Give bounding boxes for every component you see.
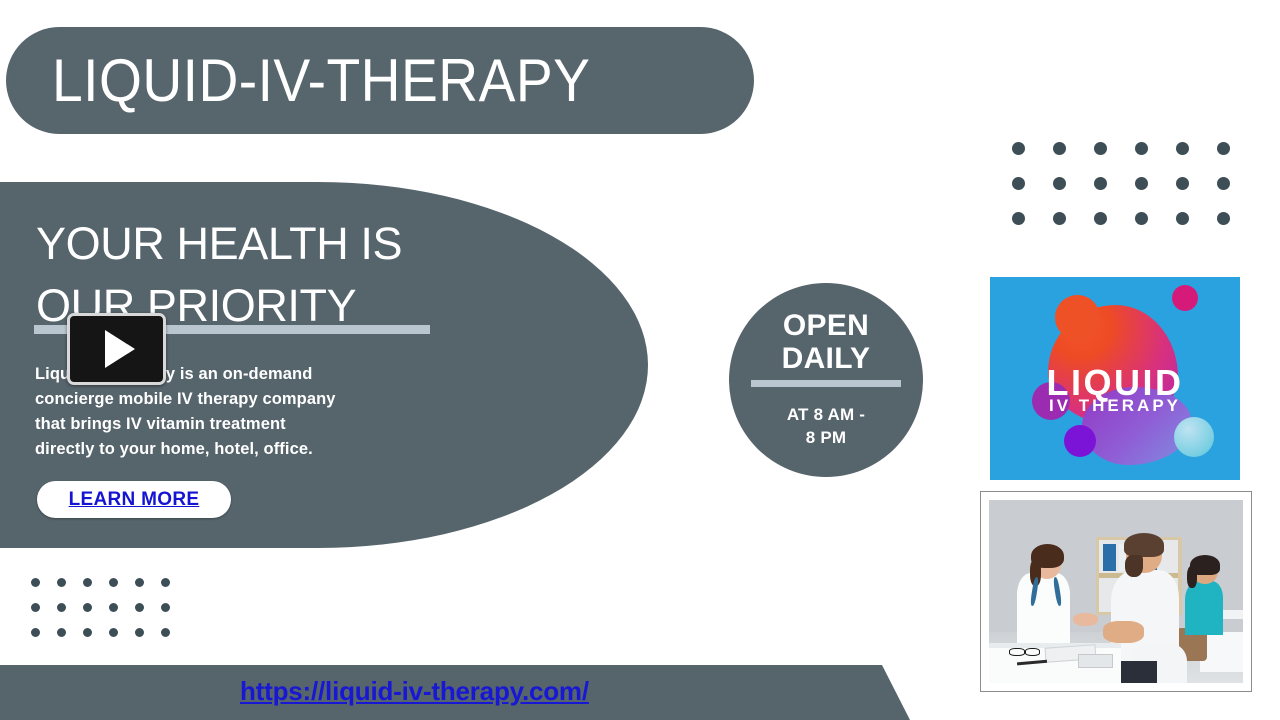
dot [1135,177,1148,190]
dot [1094,177,1107,190]
photo-patient-hair [1124,533,1165,557]
dot [31,603,40,612]
dot [1053,142,1066,155]
website-url-link[interactable]: https://liquid-iv-therapy.com/ [240,676,589,707]
logo-blob-teal-dot [1174,417,1214,457]
open-daily-badge: OPEN DAILY AT 8 AM - 8 PM [729,283,923,477]
dot [1012,212,1025,225]
logo-blob-top [1055,295,1100,340]
dot [1176,177,1189,190]
dot [1012,177,1025,190]
dot [1053,212,1066,225]
headline-line-1: YOUR HEALTH IS [36,213,506,275]
learn-more-label: LEARN MORE [69,489,200,511]
photo-glasses-right-lens [1025,648,1040,655]
dot [161,603,170,612]
photo-nurse-hair-back [1187,566,1197,588]
dot [31,628,40,637]
photo-patient-arm [1103,621,1144,643]
video-play-button[interactable] [67,313,166,385]
dot [57,603,66,612]
open-badge-line-2: DAILY [782,342,871,375]
dot [31,578,40,587]
open-badge-hours: AT 8 AM - 8 PM [787,403,865,449]
photo-patient-leg [1116,661,1157,683]
dot [1135,212,1148,225]
hours-line-1: AT 8 AM - [787,403,865,426]
decorative-dot-grid-bottom [31,578,187,653]
dot [1176,142,1189,155]
dot [57,628,66,637]
clinic-photo-card [980,491,1252,692]
dot [1217,177,1230,190]
dot [135,628,144,637]
dot [109,603,118,612]
dot [1217,212,1230,225]
dot [109,578,118,587]
photo-tablet [1078,654,1114,669]
dot [1094,212,1107,225]
logo-subtitle: IV THERAPY [990,396,1240,416]
description-line-2: concierge mobile IV therapy company [35,387,535,412]
open-badge-rule [751,380,901,387]
dot [1176,212,1189,225]
learn-more-button[interactable]: LEARN MORE [37,481,231,518]
dot [109,628,118,637]
hours-line-2: 8 PM [787,426,865,449]
photo-glasses-left-lens [1009,648,1024,655]
slide-canvas: LIQUID-IV-THERAPY YOUR HEALTH IS OUR PRI… [0,0,1280,720]
logo-blob-violet-dot [1064,425,1096,457]
open-badge-line-1: OPEN [783,309,869,342]
dot [1135,142,1148,155]
brand-logo-image: LIQUID IV THERAPY [990,277,1240,480]
photo-patient-beard [1125,555,1143,577]
dot [57,578,66,587]
photo-binder [1103,544,1116,571]
title-banner: LIQUID-IV-THERAPY [6,27,754,134]
dot [1217,142,1230,155]
dot [83,603,92,612]
dot [135,578,144,587]
page-title: LIQUID-IV-THERAPY [6,46,590,115]
dot [1012,142,1025,155]
logo-blob-pink-dot [1172,285,1198,311]
photo-doctor-hand [1073,613,1098,626]
play-icon [105,330,135,368]
dot [83,628,92,637]
dot [161,578,170,587]
dot [135,603,144,612]
dot [161,628,170,637]
dot [1053,177,1066,190]
description-line-4: directly to your home, hotel, office. [35,437,535,462]
photo-nurse-body [1185,581,1223,636]
decorative-dot-grid-top [1012,142,1258,247]
clinic-photo [989,500,1243,683]
description-line-3: that brings IV vitamin treatment [35,412,535,437]
dot [83,578,92,587]
dot [1094,142,1107,155]
